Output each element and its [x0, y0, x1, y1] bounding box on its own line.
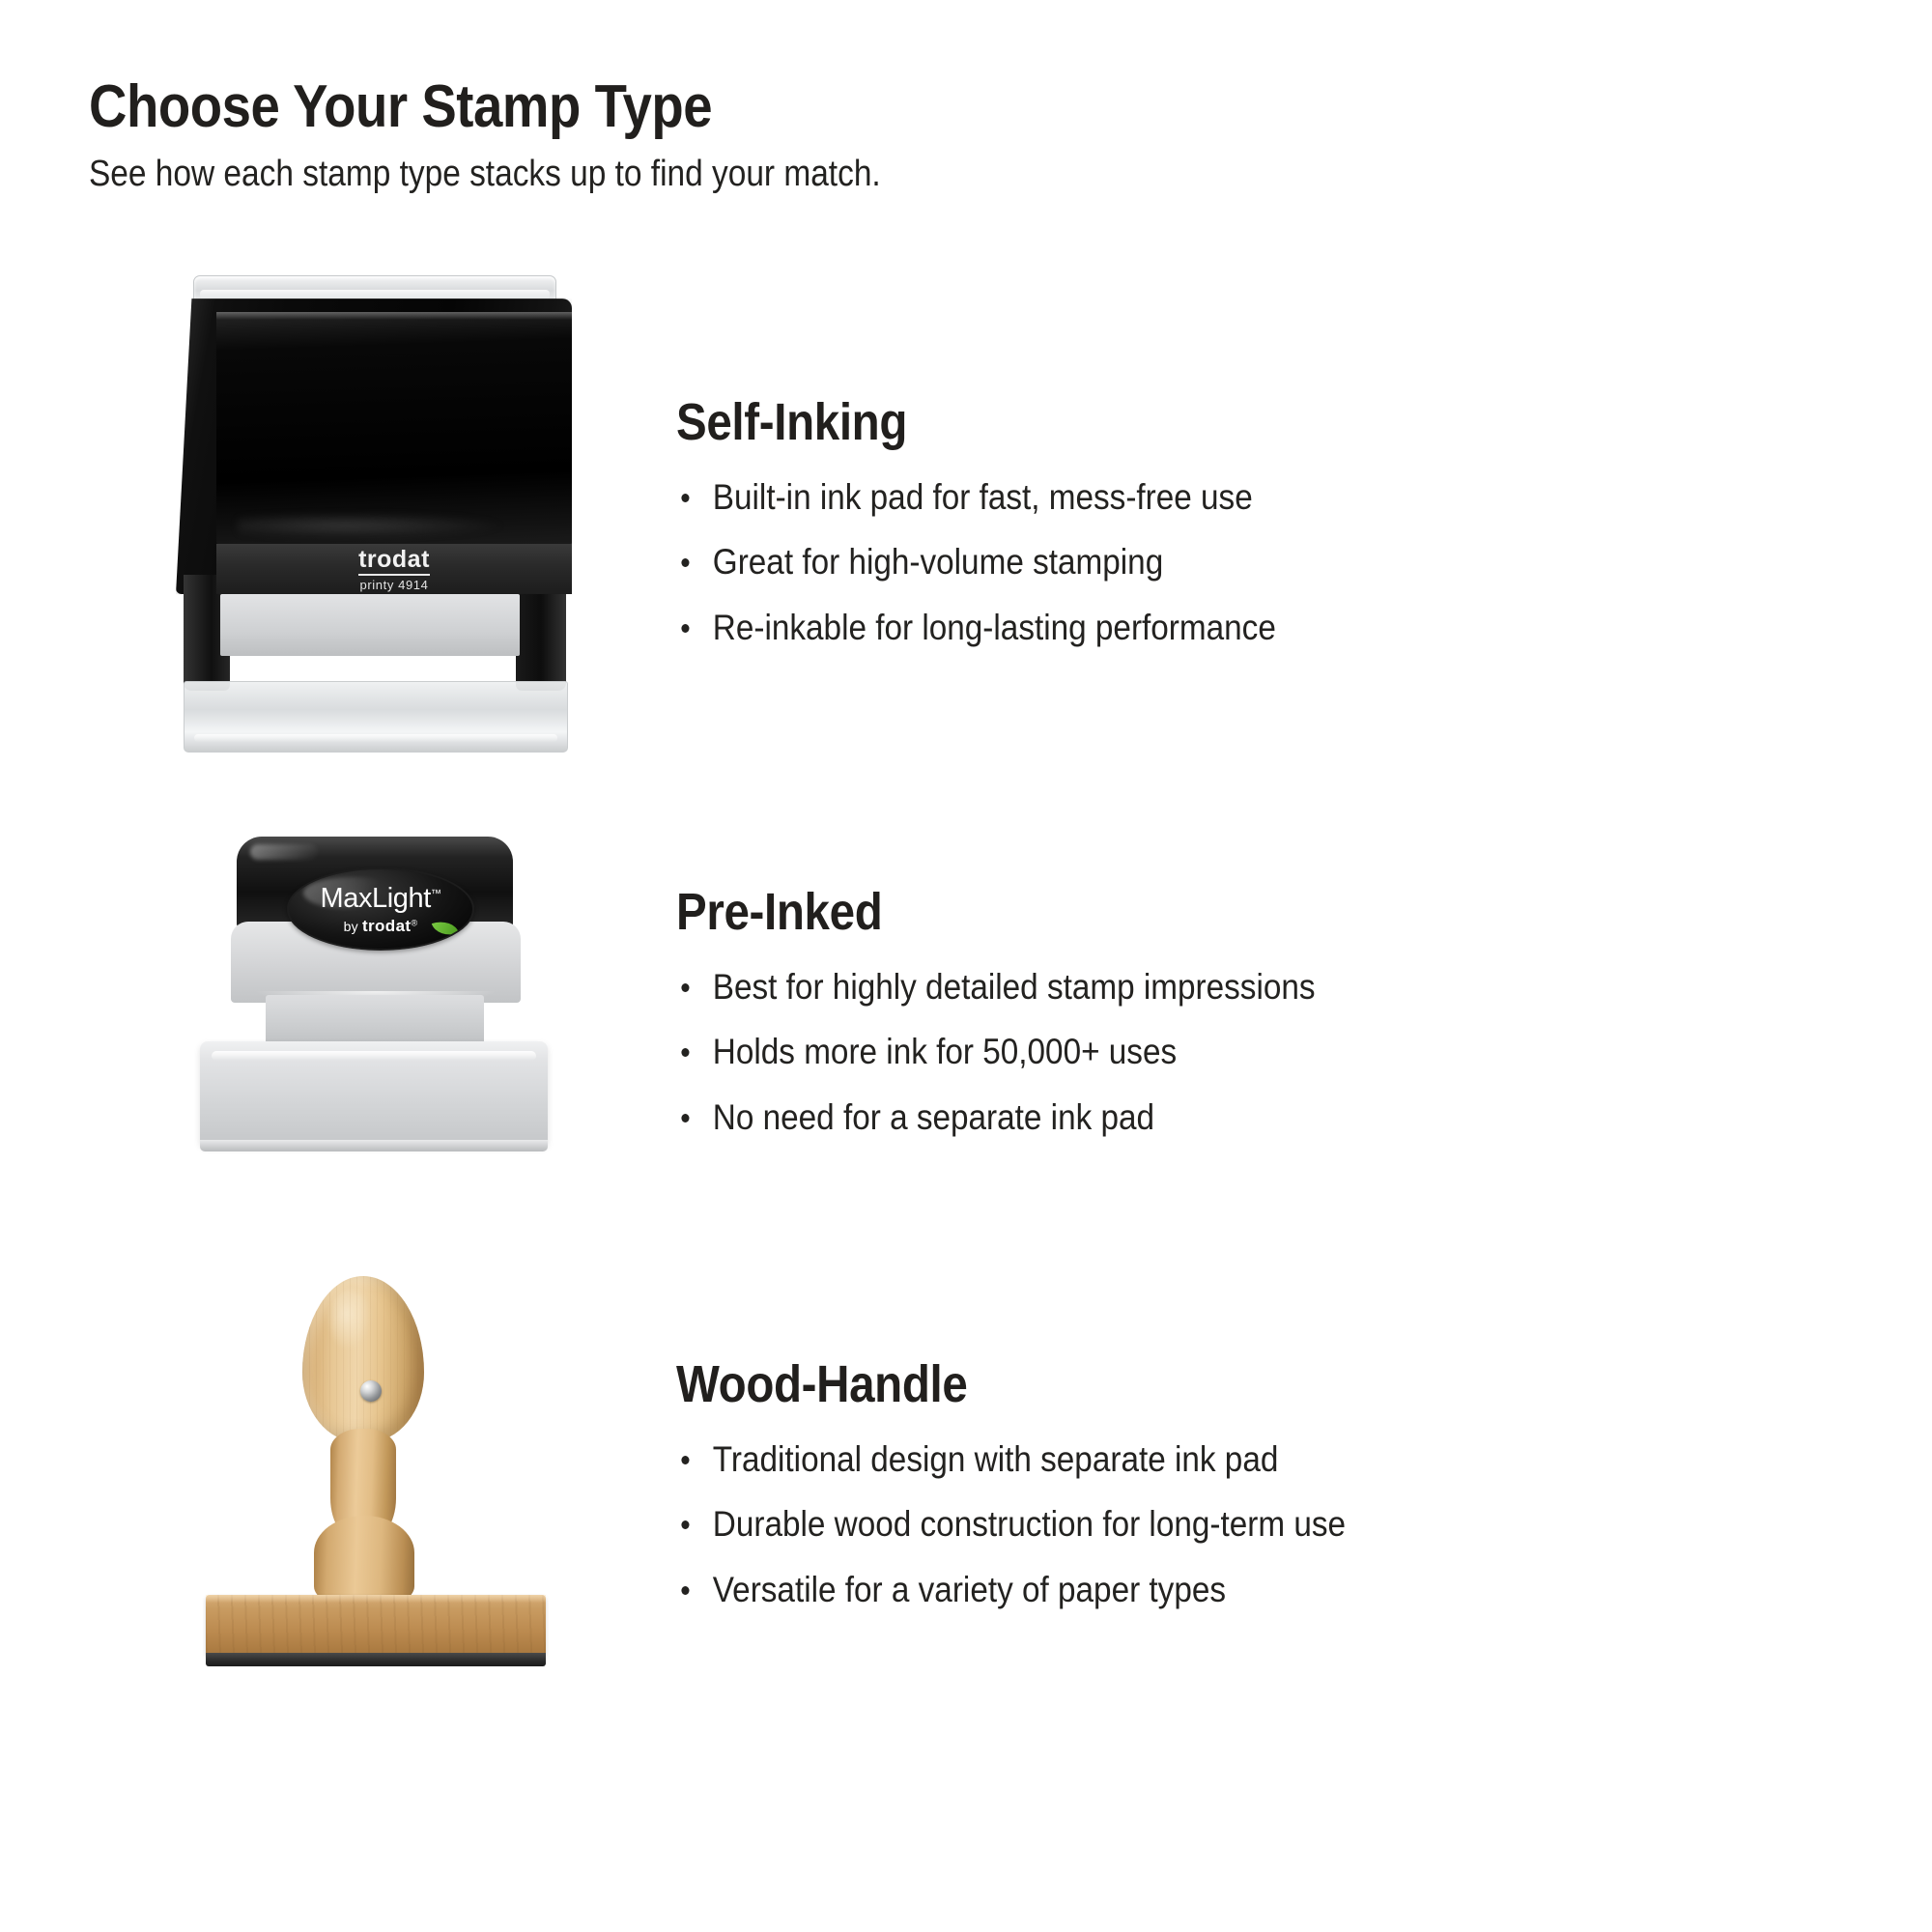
maxlight-logo-badge: MaxLight™ by trodat®: [287, 867, 474, 951]
list-item: Built-in ink pad for fast, mess-free use: [676, 473, 1739, 522]
clear-base: [184, 681, 568, 753]
feature-text: Best for highly detailed stamp impressio…: [713, 967, 1316, 1007]
list-item: Versatile for a variety of paper types: [676, 1566, 1739, 1614]
wood-handle-stamp-illustration: [171, 1276, 577, 1691]
list-item: No need for a separate ink pad: [676, 1094, 1739, 1142]
pre-inked-stamp-image: MaxLight™ by trodat®: [89, 833, 659, 1190]
wood-handle-copy: Wood-Handle Traditional design with sepa…: [659, 1354, 1857, 1614]
page-title: Choose Your Stamp Type: [89, 75, 1711, 138]
list-item: Traditional design with separate ink pad: [676, 1435, 1739, 1484]
feature-text: Holds more ink for 50,000+ uses: [713, 1032, 1177, 1071]
feature-text: No need for a separate ink pad: [713, 1097, 1154, 1137]
feature-text: Great for high-volume stamping: [713, 542, 1163, 582]
brand-plate: trodat printy 4914: [216, 544, 572, 594]
stamp-type-title-wood-handle: Wood-Handle: [676, 1354, 1715, 1414]
feature-text: Traditional design with separate ink pad: [713, 1439, 1279, 1479]
trodat-printy-stamp-illustration: trodat printy 4914: [166, 266, 582, 778]
stamp-type-title-self-inking: Self-Inking: [676, 392, 1715, 452]
page-subtitle: See how each stamp type stacks up to fin…: [89, 154, 1711, 195]
wooden-knob: [302, 1276, 424, 1442]
wood-handle-feature-list: Traditional design with separate ink pad…: [676, 1435, 1857, 1614]
bullet-dot-icon: [681, 558, 689, 567]
stamp-ink-pad: [220, 594, 520, 656]
list-item: Holds more ink for 50,000+ uses: [676, 1028, 1739, 1076]
wooden-base-block: [206, 1595, 546, 1655]
feature-text: Re-inkable for long-lasting performance: [713, 608, 1276, 647]
stamp-neck: [266, 995, 484, 1047]
trodat-logo-text: trodat: [358, 548, 430, 576]
trodat-wordmark: trodat: [362, 917, 412, 935]
bullet-dot-icon: [681, 1048, 689, 1057]
stamp-type-row-self-inking[interactable]: trodat printy 4914 Self-Inking Built-in …: [89, 251, 1857, 792]
trademark-symbol: ™: [431, 888, 441, 899]
list-item: Best for highly detailed stamp impressio…: [676, 963, 1739, 1011]
feature-text: Built-in ink pad for fast, mess-free use: [713, 477, 1253, 517]
stamp-type-title-pre-inked: Pre-Inked: [676, 882, 1715, 942]
stamp-type-comparison-page: Choose Your Stamp Type See how each stam…: [0, 0, 1932, 1932]
list-item: Great for high-volume stamping: [676, 538, 1739, 586]
stamp-foot: [200, 1140, 548, 1151]
feature-text: Durable wood construction for long-term …: [713, 1504, 1346, 1544]
bullet-dot-icon: [681, 624, 689, 633]
stamp-type-list: trodat printy 4914 Self-Inking Built-in …: [89, 251, 1932, 1725]
stamp-model-text: printy 4914: [360, 579, 429, 591]
maxlight-wordmark: MaxLight: [320, 883, 430, 914]
stamp-front-face: [216, 312, 572, 544]
list-item: Re-inkable for long-lasting performance: [676, 604, 1739, 652]
feature-text: Versatile for a variety of paper types: [713, 1570, 1226, 1609]
pre-inked-copy: Pre-Inked Best for highly detailed stamp…: [659, 882, 1857, 1142]
maxlight-logo-text: MaxLight™: [320, 885, 440, 913]
list-item: Durable wood construction for long-term …: [676, 1500, 1739, 1548]
bullet-dot-icon: [681, 1586, 689, 1595]
self-inking-stamp-image: trodat printy 4914: [89, 266, 659, 778]
by-prefix: by: [344, 919, 358, 934]
self-inking-feature-list: Built-in ink pad for fast, mess-free use…: [676, 473, 1857, 652]
bullet-dot-icon: [681, 983, 689, 992]
wood-handle-stamp-image: [89, 1276, 659, 1691]
metal-rivet-icon: [360, 1380, 382, 1402]
bullet-dot-icon: [681, 1114, 689, 1122]
rubber-die-strip: [206, 1653, 546, 1666]
bullet-dot-icon: [681, 494, 689, 502]
registered-symbol: ®: [412, 918, 418, 927]
stamp-type-row-wood-handle[interactable]: Wood-Handle Traditional design with sepa…: [89, 1242, 1857, 1725]
self-inking-copy: Self-Inking Built-in ink pad for fast, m…: [659, 392, 1857, 652]
pre-inked-feature-list: Best for highly detailed stamp impressio…: [676, 963, 1857, 1142]
bullet-dot-icon: [681, 1456, 689, 1464]
bullet-dot-icon: [681, 1520, 689, 1529]
by-trodat-text: by trodat®: [344, 918, 418, 934]
maxlight-stamp-illustration: MaxLight™ by trodat®: [171, 833, 577, 1190]
stamp-type-row-pre-inked[interactable]: MaxLight™ by trodat® Pre-Inked Best for …: [89, 804, 1857, 1219]
stamp-base: [200, 1041, 548, 1146]
